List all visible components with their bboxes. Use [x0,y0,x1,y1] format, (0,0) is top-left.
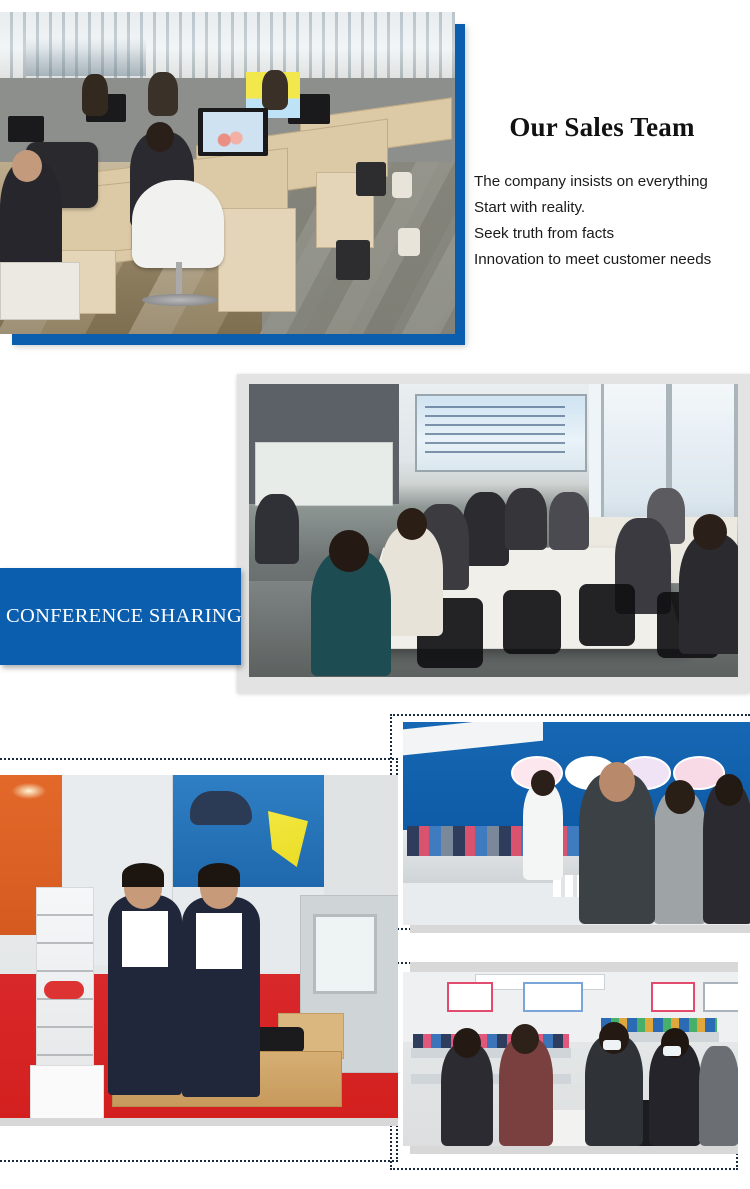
right-bottom-photo-shadow [410,1146,738,1154]
description-line-1: The company insists on everything [474,169,746,195]
description-line-2: Start with reality. [474,195,746,221]
sales-team-text-block: Our Sales Team The company insists on ev… [474,112,746,273]
office-workspace-photo [0,12,455,334]
conference-sharing-banner: CONFERENCE SHARING [0,568,241,665]
page-title: Our Sales Team [474,112,746,143]
description-line-4: Innovation to meet customer needs [474,247,746,273]
page-root: Our Sales Team The company insists on ev… [0,0,750,1189]
right-top-photo-shadow [410,925,750,933]
description-line-3: Seek truth from facts [474,221,746,247]
left-photo-shadow [0,1118,398,1126]
right-bottom-photo-topshadow [410,962,738,972]
expo-hall-visitors-photo [403,972,738,1146]
conference-meeting-photo [249,384,738,677]
sales-team-description: The company insists on everything Start … [474,169,746,273]
conference-sharing-label: CONFERENCE SHARING [0,605,242,628]
tradeshow-booth-photo [0,775,398,1118]
expo-blue-booth-photo [403,722,750,925]
